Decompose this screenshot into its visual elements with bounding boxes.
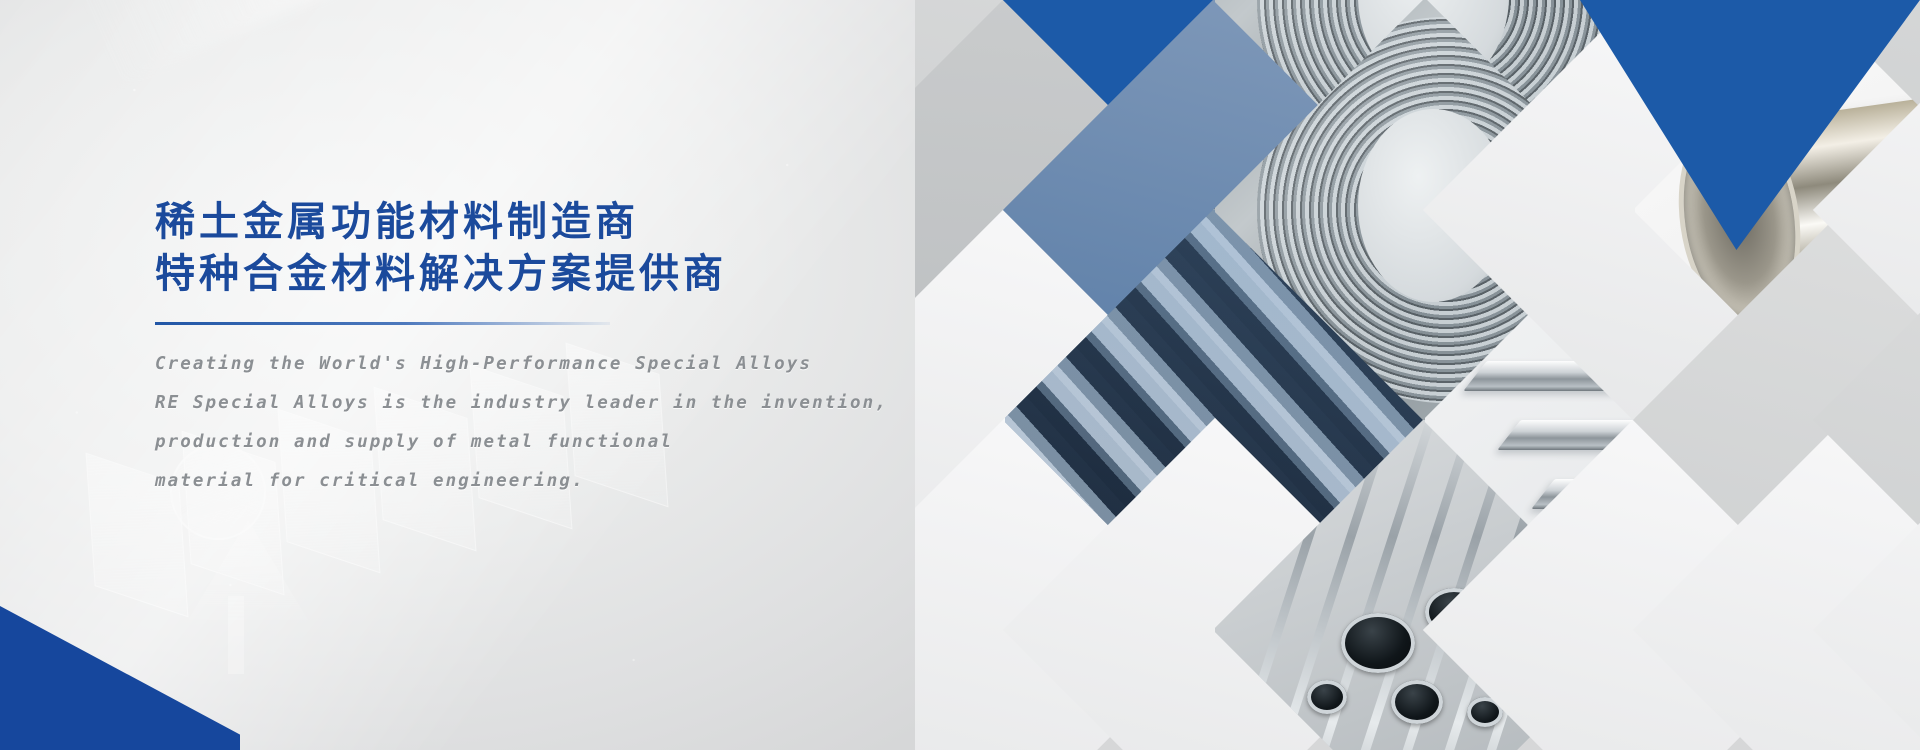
- subtitle-line-4: material for critical engineering.: [155, 462, 915, 501]
- hero-banner: 稀土金属功能材料制造商 特种合金材料解决方案提供商 Creating the W…: [0, 0, 1920, 750]
- headline-line-2: 特种合金材料解决方案提供商: [155, 248, 915, 300]
- subtitle-line-2: RE Special Alloys is the industry leader…: [155, 384, 915, 423]
- headline-divider: [155, 322, 610, 325]
- hero-text-block: 稀土金属功能材料制造商 特种合金材料解决方案提供商 Creating the W…: [155, 196, 915, 501]
- subtitle-line-3: production and supply of metal functiona…: [155, 423, 915, 462]
- headline-line-1: 稀土金属功能材料制造商: [155, 196, 915, 248]
- subtitle-line-1: Creating the World's High-Performance Sp…: [155, 345, 915, 384]
